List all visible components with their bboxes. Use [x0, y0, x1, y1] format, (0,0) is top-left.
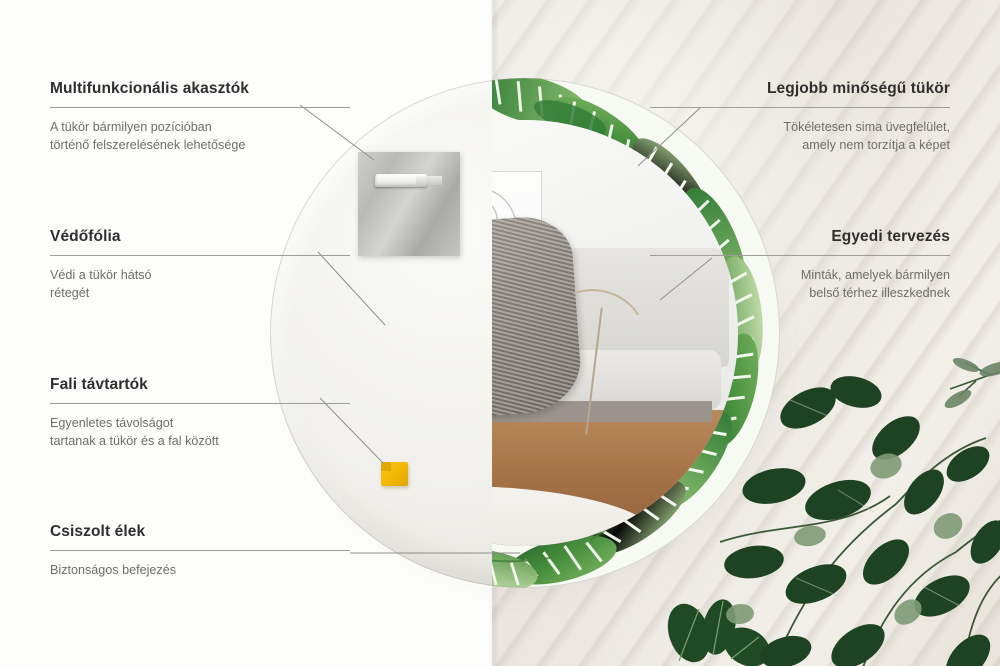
callout-title: Védőfólia [50, 228, 350, 246]
callout-wall-spacers: Fali távtartók Egyenletes távolságot tar… [50, 376, 350, 451]
callout-rule [50, 107, 350, 108]
callout-polished-edges: Csiszolt élek Biztonságos befejezés [50, 523, 350, 580]
callout-title: Fali távtartók [50, 376, 350, 394]
callout-description: Biztonságos befejezés [50, 562, 350, 580]
callout-rule [50, 403, 350, 404]
callout-rule [50, 550, 350, 551]
callout-rule [650, 255, 950, 256]
callout-multifunctional-hooks: Multifunkcionális akasztók A tükör bármi… [50, 80, 350, 155]
callout-description: Minták, amelyek bármilyen belső térhez i… [650, 267, 950, 303]
callout-title: Legjobb minőségű tükör [650, 80, 950, 98]
callout-unique-design: Egyedi tervezés Minták, amelyek bármilye… [650, 228, 950, 303]
callout-description: A tükör bármilyen pozícióban történő fel… [50, 119, 350, 155]
callout-title: Multifunkcionális akasztók [50, 80, 350, 98]
plant-foliage-icon [710, 346, 1000, 666]
callout-description: Tökéletesen sima üvegfelület, amely nem … [650, 119, 950, 155]
callout-description: Egyenletes távolságot tartanak a tükör é… [50, 415, 350, 451]
hanger-plate [358, 152, 460, 256]
callout-rule [650, 107, 950, 108]
callout-best-quality-mirror: Legjobb minőségű tükör Tökéletesen sima … [650, 80, 950, 155]
callout-description: Védi a tükör hátsó rétegét [50, 267, 350, 303]
foreground-plant [710, 346, 1000, 666]
callout-title: Egyedi tervezés [650, 228, 950, 246]
yellow-spacer [381, 462, 408, 486]
callout-title: Csiszolt élek [50, 523, 350, 541]
infographic-canvas: Multifunkcionális akasztók A tükör bármi… [0, 0, 1000, 666]
spacer-notch [381, 462, 391, 471]
hanger-slot-secondary-icon [416, 176, 442, 185]
callout-protective-film: Védőfólia Védi a tükör hátsó rétegét [50, 228, 350, 303]
callout-rule [50, 255, 350, 256]
